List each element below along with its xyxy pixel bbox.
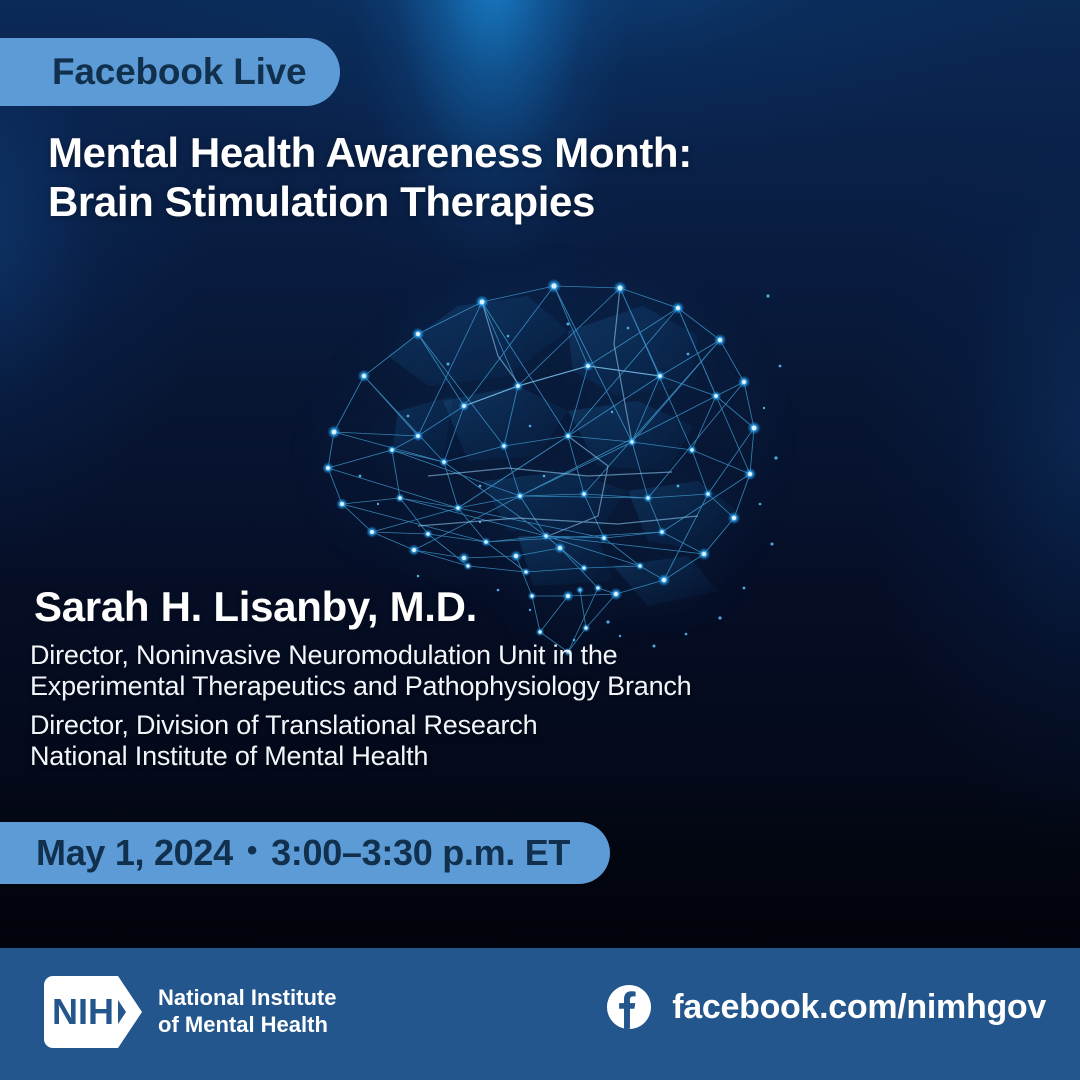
nih-name-line-2: of Mental Health xyxy=(158,1012,336,1039)
speaker-title-line-1: Director, Noninvasive Neuromodulation Un… xyxy=(30,640,692,671)
facebook-live-badge-label: Facebook Live xyxy=(52,51,306,93)
facebook-icon[interactable] xyxy=(606,984,652,1030)
speaker-affiliation-line-2: National Institute of Mental Health xyxy=(30,741,537,772)
page-title-line-2: Brain Stimulation Therapies xyxy=(48,177,748,226)
speaker-name: Sarah H. Lisanby, M.D. xyxy=(34,583,477,631)
speaker-affiliation: Director, Division of Translational Rese… xyxy=(30,710,537,773)
speaker-title-line-2: Experimental Therapeutics and Pathophysi… xyxy=(30,671,692,702)
nih-name-line-1: National Institute xyxy=(158,985,336,1012)
nih-chevron-icon xyxy=(102,976,142,1048)
facebook-link[interactable]: facebook.com/nimhgov xyxy=(606,984,1046,1030)
poster-canvas: Facebook Live Mental Health Awareness Mo… xyxy=(0,0,1080,1080)
nih-logo-wordmark: National Institute of Mental Health xyxy=(158,985,336,1039)
speaker-title: Director, Noninvasive Neuromodulation Un… xyxy=(30,640,692,703)
event-separator-dot: • xyxy=(247,836,257,866)
footer-bar: NIH National Institute of Mental Health … xyxy=(0,948,1080,1080)
event-time: 3:00–3:30 p.m. ET xyxy=(271,832,570,874)
facebook-url-text[interactable]: facebook.com/nimhgov xyxy=(672,988,1046,1027)
event-datetime-badge: May 1, 2024 • 3:00–3:30 p.m. ET xyxy=(0,822,610,884)
event-date: May 1, 2024 xyxy=(36,832,233,874)
page-title: Mental Health Awareness Month: Brain Sti… xyxy=(48,128,748,226)
speaker-affiliation-line-1: Director, Division of Translational Rese… xyxy=(30,710,537,741)
page-title-line-1: Mental Health Awareness Month: xyxy=(48,128,748,177)
nih-logo: NIH National Institute of Mental Health xyxy=(44,976,336,1048)
facebook-live-badge: Facebook Live xyxy=(0,38,340,106)
nih-logo-mark: NIH xyxy=(44,976,140,1048)
